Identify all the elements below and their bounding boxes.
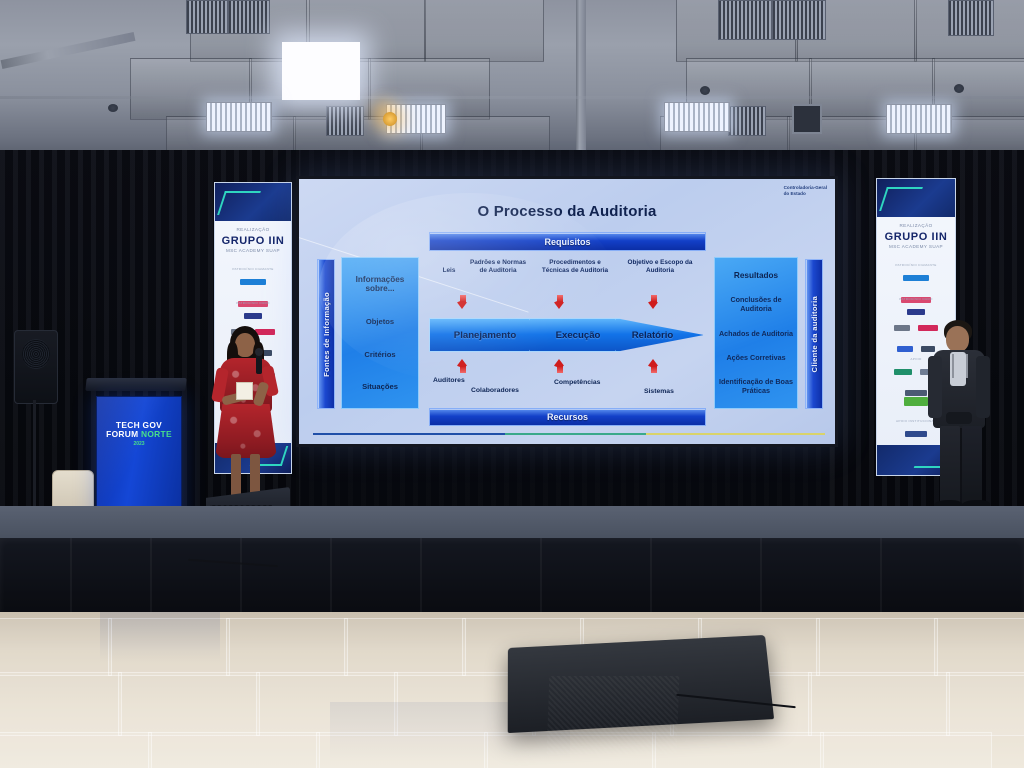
informacoes-panel: Informações sobre... Objetos Critérios S… bbox=[341, 257, 419, 409]
banner-brand-left: GRUPO IIN bbox=[215, 235, 291, 247]
attendee-standing bbox=[924, 320, 996, 520]
ceiling-vent-grille bbox=[948, 0, 994, 36]
ceiling-vent-grille bbox=[228, 0, 270, 34]
recurso-label-sistemas: Sistemas bbox=[644, 388, 674, 395]
ceiling-vent-grille bbox=[728, 106, 766, 136]
banner-section-caption: PATROCÍNIO DIAMANTE bbox=[883, 263, 949, 267]
banner-brand-right: GRUPO IIN bbox=[877, 231, 955, 243]
banner-section: PATROCÍNIO OURO bbox=[221, 301, 285, 325]
ceiling-speaker-grille bbox=[792, 104, 822, 134]
slide-title: O Processo da Auditoria bbox=[299, 203, 835, 220]
ceiling-spot-light bbox=[383, 112, 397, 126]
pa-speaker bbox=[14, 330, 58, 404]
fontes-de-informacao-bar: Fontes de Informação bbox=[317, 259, 335, 409]
sponsor-logo bbox=[894, 369, 912, 375]
arrow-down-icon bbox=[553, 295, 566, 309]
organization-logo-text: Controladoria-Geral do Estado bbox=[784, 185, 827, 197]
banner-top-graphic bbox=[215, 183, 291, 221]
leg-left bbox=[940, 426, 960, 504]
banner-eyebrow-right: REALIZAÇÃO bbox=[877, 223, 955, 228]
smoke-detector bbox=[108, 104, 118, 112]
arrow-down-icon bbox=[456, 295, 469, 309]
sponsor-logo bbox=[244, 313, 262, 319]
resultados-panel-header: Resultados bbox=[734, 271, 778, 280]
projection-screen: Controladoria-Geral do Estado O Processo… bbox=[296, 176, 838, 447]
banner-section-caption: PATROCÍNIO DIAMANTE bbox=[221, 267, 285, 271]
banner-top-graphic bbox=[877, 179, 955, 217]
ceiling-vent-grille bbox=[326, 106, 364, 136]
recurso-label-colaboradores: Colaboradores bbox=[471, 387, 519, 394]
stage-skirt bbox=[0, 538, 1024, 620]
footer-accent-blue bbox=[313, 433, 505, 435]
slide-footer-accent-line bbox=[313, 433, 825, 435]
cliente-da-auditoria-bar: Cliente da auditoria bbox=[805, 259, 823, 409]
sponsor-logo bbox=[894, 325, 910, 331]
podium-logo: TECH GOV FORUM NORTE 2023 bbox=[97, 421, 181, 447]
requisito-label-procedimentos: Procedimentos e Técnicas de Auditoria bbox=[537, 259, 613, 275]
arrow-up-icon bbox=[553, 359, 566, 373]
podium-logo-year: 2023 bbox=[97, 441, 181, 447]
leg-left bbox=[231, 454, 241, 500]
informacoes-panel-item: Critérios bbox=[364, 350, 395, 359]
footer-accent-yellow bbox=[646, 433, 825, 435]
informacoes-panel-item: Situações bbox=[362, 382, 398, 391]
hands-clasped bbox=[946, 412, 972, 424]
ceiling-fluorescent-light bbox=[664, 102, 730, 132]
confidence-monitor-stand bbox=[547, 676, 680, 754]
smoke-detector bbox=[700, 86, 710, 95]
recursos-bar: Recursos bbox=[429, 408, 706, 426]
head bbox=[946, 326, 969, 352]
ceiling-fluorescent-light bbox=[886, 104, 952, 134]
sponsor-logo bbox=[240, 279, 266, 285]
informacoes-panel-header: Informações sobre... bbox=[345, 275, 415, 294]
smoke-detector bbox=[954, 84, 964, 93]
arm-right bbox=[976, 356, 990, 418]
requisito-label-padroes: Padrões e Normas de Auditoria bbox=[467, 259, 529, 275]
recurso-label-auditores: Auditores bbox=[433, 377, 465, 384]
requisitos-bar: Requisitos bbox=[429, 232, 706, 251]
ceiling-vent-grille bbox=[772, 0, 826, 40]
sponsor-logo bbox=[907, 309, 925, 315]
resultados-panel-item: Achados de Auditoria bbox=[719, 329, 793, 338]
resultados-panel-item: Identificação de Boas Práticas bbox=[718, 377, 794, 395]
sponsor-logo bbox=[897, 346, 913, 352]
process-step-execucao: Execução bbox=[529, 318, 627, 352]
banner-brand-sub-left: MSC ACADEMY SUAP bbox=[215, 248, 291, 253]
floor-reflection bbox=[100, 612, 220, 662]
slide-content: Controladoria-Geral do Estado O Processo… bbox=[299, 179, 835, 444]
sponsor-logo bbox=[903, 275, 929, 281]
resultados-panel-item: Conclusões de Auditoria bbox=[718, 295, 794, 313]
informacoes-panel-item: Objetos bbox=[366, 317, 394, 326]
arrow-down-icon bbox=[647, 295, 660, 309]
banner-section-caption: PATROCÍNIO OURO bbox=[221, 301, 285, 305]
name-badge bbox=[236, 382, 253, 400]
process-chevron-flow: Planejamento Execução Relatório bbox=[429, 318, 704, 352]
ceiling-fluorescent-light bbox=[206, 102, 272, 132]
speaker-stand-pole bbox=[33, 400, 36, 508]
leg-right bbox=[962, 426, 982, 504]
recurso-label-competencias: Competências bbox=[554, 379, 600, 386]
banner-section: PATROCÍNIO OURO bbox=[883, 297, 949, 321]
ceiling bbox=[0, 0, 1024, 172]
requisito-label-leis: Leis bbox=[427, 267, 471, 275]
banner-section-caption: PATROCÍNIO OURO bbox=[883, 297, 949, 301]
ceiling-vent-grille bbox=[718, 0, 772, 40]
banner-brand-sub-right: MSC ACADEMY SUAP bbox=[877, 244, 955, 249]
process-step-planejamento: Planejamento bbox=[429, 318, 541, 352]
resultados-panel-item: Ações Corretivas bbox=[726, 353, 785, 362]
process-step-relatorio: Relatório bbox=[615, 318, 704, 352]
arm-left bbox=[928, 356, 942, 418]
speaker-presenting bbox=[206, 326, 286, 512]
arrow-up-icon bbox=[456, 359, 469, 373]
resultados-panel: Resultados Conclusões de Auditoria Achad… bbox=[714, 257, 798, 409]
requisito-label-objetivo: Objetivo e Escopo da Auditoria bbox=[627, 259, 693, 275]
footer-accent-green bbox=[505, 433, 646, 435]
lanyard bbox=[952, 354, 968, 378]
arrow-up-icon bbox=[647, 359, 660, 373]
ceiling-panel-light bbox=[282, 42, 360, 100]
banner-eyebrow-left: REALIZAÇÃO bbox=[215, 227, 291, 232]
podium-logo-line2: FORUM NORTE bbox=[97, 430, 181, 439]
podium-top bbox=[85, 378, 186, 391]
dress-skirt bbox=[215, 404, 277, 458]
ceiling-vent-grille bbox=[186, 0, 228, 34]
conference-room-photo: REALIZAÇÃO GRUPO IIN MSC ACADEMY SUAP PA… bbox=[0, 0, 1024, 768]
head bbox=[235, 333, 255, 357]
microphone-head bbox=[255, 348, 263, 356]
